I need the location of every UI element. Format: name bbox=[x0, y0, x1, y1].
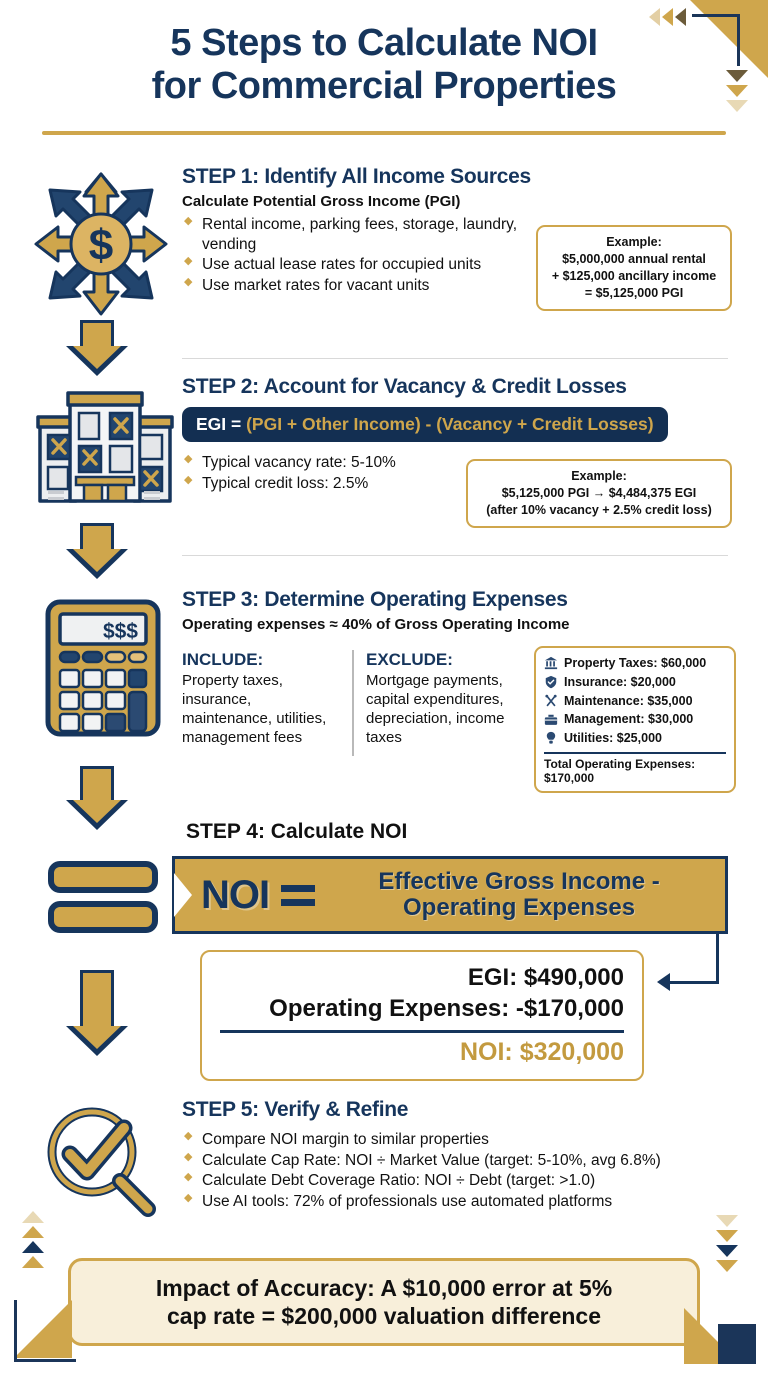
section-divider bbox=[182, 555, 728, 556]
example-line: = $5,125,000 PGI bbox=[546, 285, 722, 302]
example-label: Example: bbox=[476, 468, 722, 485]
banner-to-result-connector bbox=[690, 934, 768, 994]
step-3-body: STEP 3: Determine Operating Expenses Ope… bbox=[182, 588, 742, 633]
step-3-exclude-column: EXCLUDE: Mortgage payments, capital expe… bbox=[366, 650, 526, 748]
footer-line-1: Impact of Accuracy: A $10,000 error at 5… bbox=[156, 1274, 612, 1302]
step-1-example-box: Example: $5,000,000 annual rental + $125… bbox=[536, 225, 732, 311]
list-item: Compare NOI margin to similar properties bbox=[182, 1130, 762, 1150]
equals-icon bbox=[48, 860, 160, 941]
connector-arrow-down bbox=[66, 320, 128, 376]
result-divider bbox=[220, 1030, 624, 1033]
list-item: Typical credit loss: 2.5% bbox=[182, 474, 482, 494]
opex-row: Operating Expenses: -$170,000 bbox=[220, 993, 624, 1024]
corner-square-icon bbox=[718, 1324, 756, 1364]
footer-callout: Impact of Accuracy: A $10,000 error at 5… bbox=[68, 1258, 700, 1346]
svg-text:$$$: $$$ bbox=[103, 620, 138, 643]
exclude-text: Mortgage payments, capital expenditures,… bbox=[366, 672, 526, 748]
chevron-down-decoration-bottom-right bbox=[716, 1215, 738, 1272]
step-1-bullet-list: Rental income, parking fees, storage, la… bbox=[182, 215, 532, 296]
example-line: $5,125,000 PGI → $4,484,375 EGI bbox=[476, 485, 722, 502]
step-5-body: STEP 5: Verify & Refine Compare NOI marg… bbox=[182, 1098, 762, 1213]
egi-row: EGI: $490,000 bbox=[220, 962, 624, 993]
page-title-line-1: 5 Steps to Calculate NOI bbox=[0, 22, 768, 65]
noi-result-value: $320,000 bbox=[520, 1038, 624, 1066]
example-line: $5,000,000 annual rental bbox=[546, 251, 722, 268]
chevron-down-icon bbox=[716, 1260, 738, 1272]
connector-arrow-down bbox=[66, 523, 128, 579]
step-3-include-column: INCLUDE: Property taxes, insurance, main… bbox=[182, 650, 332, 748]
bank-icon bbox=[544, 656, 558, 670]
include-text: Property taxes, insurance, maintenance, … bbox=[182, 672, 332, 748]
equals-sign-icon bbox=[281, 885, 315, 906]
expense-label: Management: $30,000 bbox=[564, 710, 693, 729]
opex-value: -$170,000 bbox=[516, 995, 624, 1022]
step-2-example-box: Example: $5,125,000 PGI → $4,484,375 EGI… bbox=[466, 459, 732, 528]
corner-triangle-bottom-left-icon bbox=[14, 1300, 76, 1362]
expense-label: Insurance: $20,000 bbox=[564, 673, 676, 692]
tools-icon bbox=[544, 694, 558, 708]
connector-arrow-down bbox=[66, 766, 128, 830]
exclude-label: EXCLUDE: bbox=[366, 650, 526, 670]
noi-formula-banner: NOI Effective Gross Income - Operating E… bbox=[172, 856, 728, 934]
banner-notch bbox=[174, 873, 192, 917]
money-arrows-icon: $ bbox=[34, 170, 169, 325]
chevron-up-decoration-bottom-left bbox=[22, 1211, 44, 1268]
list-item: Typical vacancy rate: 5-10% bbox=[182, 453, 482, 473]
chevron-down-icon bbox=[716, 1230, 738, 1242]
expense-label: Property Taxes: $60,000 bbox=[564, 654, 706, 673]
chevron-up-icon bbox=[22, 1211, 44, 1223]
magnifier-check-icon bbox=[40, 1102, 160, 1225]
briefcase-icon bbox=[544, 713, 558, 727]
step-2-formula-bar: EGI = (PGI + Other Income) - (Vacancy + … bbox=[182, 407, 668, 442]
chevron-down-icon bbox=[716, 1215, 738, 1227]
chevron-up-icon bbox=[22, 1256, 44, 1268]
bulb-icon bbox=[544, 731, 558, 745]
opex-label: Operating Expenses: bbox=[269, 995, 509, 1022]
noi-formula-rhs: Effective Gross Income - Operating Expen… bbox=[327, 869, 711, 920]
expense-label: Maintenance: $35,000 bbox=[564, 692, 693, 711]
formula-lhs: EGI = bbox=[196, 414, 241, 434]
list-item: Rental income, parking fees, storage, la… bbox=[182, 215, 532, 254]
step-5-bullet-list: Compare NOI margin to similar properties… bbox=[182, 1130, 762, 1212]
shield-icon bbox=[544, 675, 558, 689]
section-divider bbox=[182, 358, 728, 359]
noi-result-label: NOI: bbox=[460, 1038, 513, 1066]
page-title-line-2: for Commercial Properties bbox=[0, 65, 768, 108]
step-3-subheading: Operating expenses ≈ 40% of Gross Operat… bbox=[182, 616, 742, 633]
calculator-icon: $$$ bbox=[44, 598, 162, 743]
step-1-subheading: Calculate Potential Gross Income (PGI) bbox=[182, 193, 742, 210]
noi-formula-line-2: Operating Expenses bbox=[327, 895, 711, 921]
noi-row: NOI: $320,000 bbox=[220, 1038, 624, 1067]
noi-result-box: EGI: $490,000 Operating Expenses: -$170,… bbox=[200, 950, 644, 1081]
list-item: Use AI tools: 72% of professionals use a… bbox=[182, 1192, 762, 1212]
step-2-heading: STEP 2: Account for Vacancy & Credit Los… bbox=[182, 375, 742, 399]
example-line: (after 10% vacancy + 2.5% credit loss) bbox=[476, 502, 722, 519]
svg-text:$: $ bbox=[89, 221, 113, 270]
page-title: 5 Steps to Calculate NOI for Commercial … bbox=[0, 22, 768, 109]
list-item: Use market rates for vacant units bbox=[182, 276, 532, 296]
step-3-expense-breakdown-box: Property Taxes: $60,000 Insurance: $20,0… bbox=[534, 646, 736, 793]
formula-rhs: (PGI + Other Income) - (Vacancy + Credit… bbox=[241, 414, 653, 434]
expense-row: Maintenance: $35,000 bbox=[544, 692, 726, 711]
infographic-page: 5 Steps to Calculate NOI for Commercial … bbox=[0, 0, 768, 1376]
example-label: Example: bbox=[546, 234, 722, 251]
noi-formula-line-1: Effective Gross Income - bbox=[327, 869, 711, 895]
egi-label: EGI: bbox=[468, 964, 517, 991]
column-divider bbox=[352, 650, 354, 756]
egi-value: $490,000 bbox=[524, 964, 624, 991]
expense-row: Management: $30,000 bbox=[544, 710, 726, 729]
list-item: Use actual lease rates for occupied unit… bbox=[182, 255, 532, 275]
footer-line-2: cap rate = $200,000 valuation difference bbox=[156, 1302, 612, 1330]
noi-label: NOI bbox=[201, 873, 269, 918]
expense-label: Utilities: $25,000 bbox=[564, 729, 662, 748]
step-4-heading: STEP 4: Calculate NOI bbox=[186, 820, 407, 844]
connector-arrow-down bbox=[66, 970, 128, 1056]
chevron-down-icon bbox=[716, 1245, 738, 1257]
step-2-bullet-list: Typical vacancy rate: 5-10% Typical cred… bbox=[182, 453, 482, 493]
expense-row: Property Taxes: $60,000 bbox=[544, 654, 726, 673]
step-1-heading: STEP 1: Identify All Income Sources bbox=[182, 165, 742, 189]
corner-decoration-bottom-right bbox=[684, 1302, 756, 1364]
list-item: Calculate Debt Coverage Ratio: NOI ÷ Deb… bbox=[182, 1171, 762, 1191]
expense-total: Total Operating Expenses: $170,000 bbox=[544, 752, 726, 785]
chevron-up-icon bbox=[22, 1241, 44, 1253]
example-line: + $125,000 ancillary income bbox=[546, 268, 722, 285]
chevron-up-icon bbox=[22, 1226, 44, 1238]
office-building-icon bbox=[34, 389, 176, 512]
expense-row: Utilities: $25,000 bbox=[544, 729, 726, 748]
step-3-heading: STEP 3: Determine Operating Expenses bbox=[182, 588, 742, 612]
title-divider bbox=[42, 131, 726, 135]
list-item: Calculate Cap Rate: NOI ÷ Market Value (… bbox=[182, 1151, 762, 1171]
include-label: INCLUDE: bbox=[182, 650, 332, 670]
step-5-heading: STEP 5: Verify & Refine bbox=[182, 1098, 762, 1122]
expense-row: Insurance: $20,000 bbox=[544, 673, 726, 692]
